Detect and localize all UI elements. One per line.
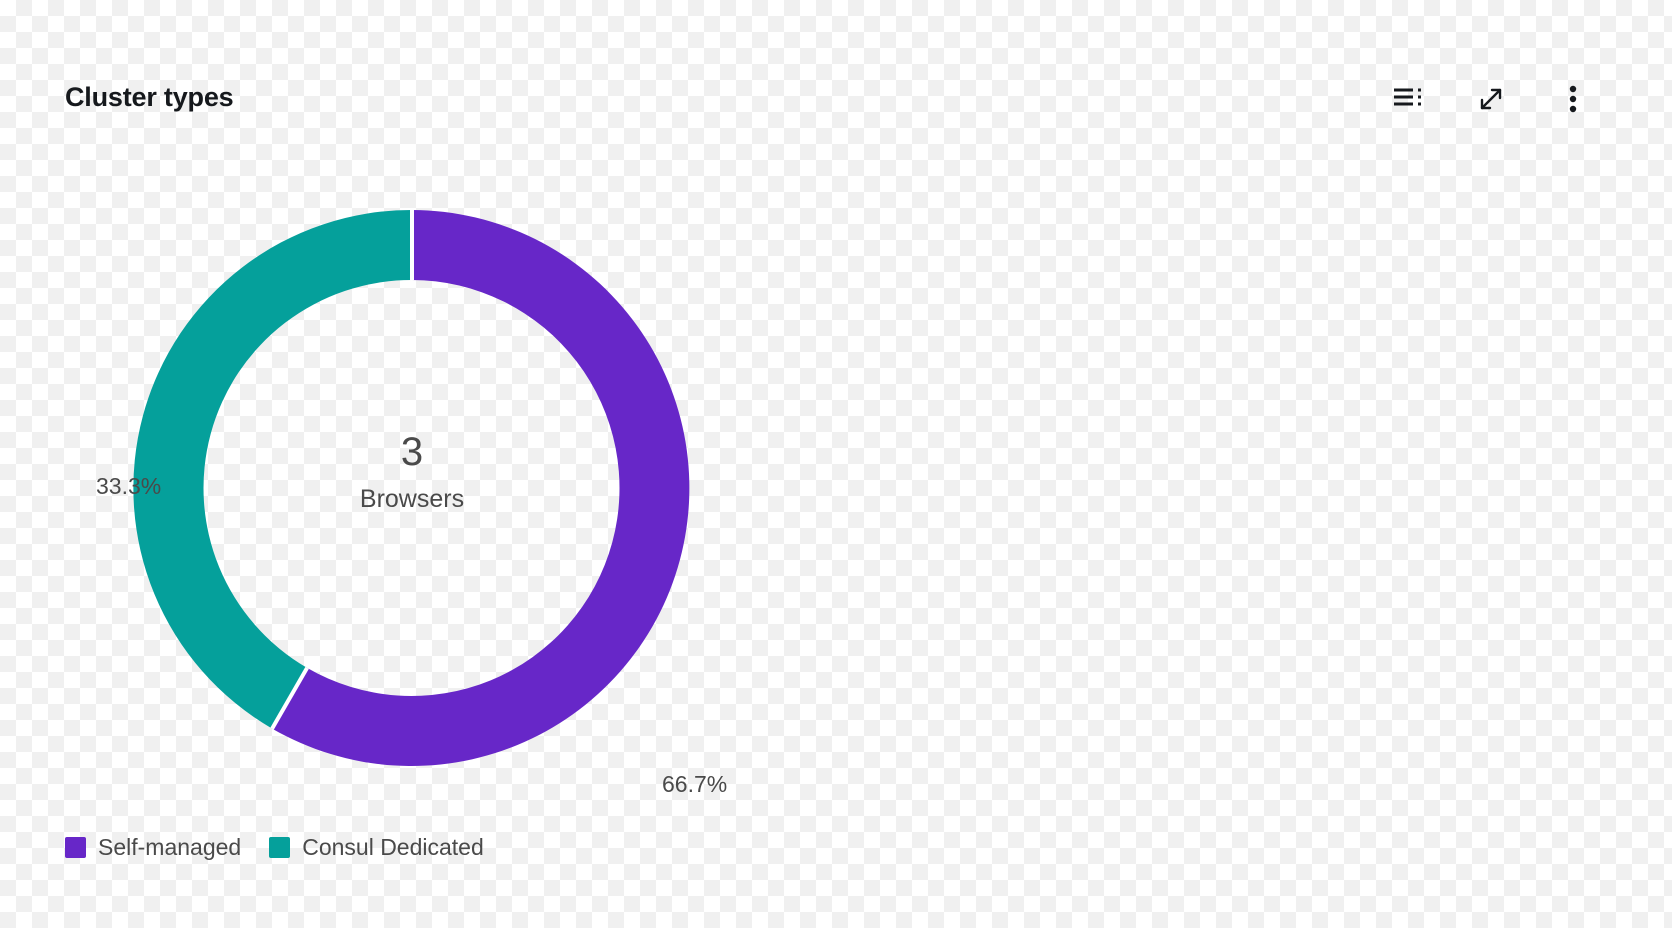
expand-icon (1477, 85, 1505, 113)
donut-center-value: 3 (134, 432, 690, 472)
legend-label-self-managed: Self-managed (98, 836, 241, 859)
view-data-table-button[interactable] (1392, 82, 1426, 116)
donut-graphic: 3 Browsers (134, 210, 690, 766)
more-options-button[interactable] (1556, 82, 1590, 116)
donut-chart: 3 Browsers 33.3% 66.7% (0, 150, 1672, 810)
more-options-icon (1569, 85, 1577, 113)
panel-header: Cluster types (0, 0, 1672, 150)
expand-button[interactable] (1474, 82, 1508, 116)
header-actions (1392, 82, 1590, 116)
legend-item-consul-dedicated[interactable]: Consul Dedicated (269, 836, 484, 859)
slice-label-consul-dedicated: 33.3% (96, 475, 161, 498)
slice-label-self-managed: 66.7% (662, 773, 727, 796)
legend-item-self-managed[interactable]: Self-managed (65, 836, 241, 859)
legend-swatch-self-managed (65, 837, 86, 858)
donut-center-label: Browsers (134, 487, 690, 512)
view-data-table-icon (1394, 86, 1424, 112)
chart-legend: Self-managed Consul Dedicated (65, 836, 484, 859)
legend-swatch-consul-dedicated (269, 837, 290, 858)
cluster-types-chart-panel: Cluster types (0, 0, 1672, 928)
page-title: Cluster types (65, 82, 233, 113)
legend-label-consul-dedicated: Consul Dedicated (302, 836, 484, 859)
